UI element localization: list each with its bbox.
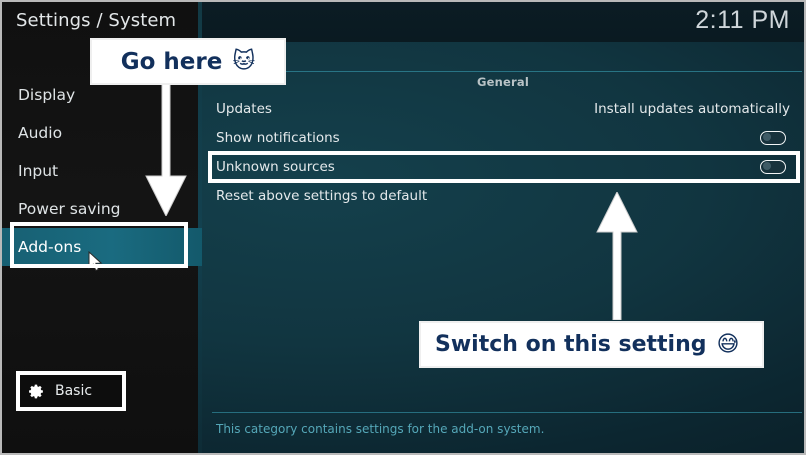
unknown-sources-toggle[interactable] (760, 160, 786, 174)
sidebar-item-label: Audio (18, 124, 62, 142)
setting-value: Install updates automatically (594, 101, 798, 117)
setting-row-updates[interactable]: Updates Install updates automatically (202, 94, 804, 123)
toggle-knob (763, 133, 771, 141)
setting-row-show-notifications[interactable]: Show notifications (202, 123, 804, 152)
sidebar-item-label: Display (18, 86, 75, 104)
top-bar: Settings / System 2:11 PM (2, 2, 804, 42)
setting-row-reset-defaults[interactable]: Reset above settings to default (202, 181, 804, 210)
settings-panel: General Updates Install updates automati… (202, 42, 804, 453)
setting-label: Reset above settings to default (216, 188, 427, 204)
sidebar-item-label: Add-ons (18, 238, 81, 256)
cat-face-emoji: 🐱 (232, 51, 255, 73)
show-notifications-toggle[interactable] (760, 131, 786, 145)
grinning-sweat-emoji: 😅 (717, 334, 740, 356)
kodi-settings-screenshot: Settings / System 2:11 PM Display Audio … (0, 0, 806, 455)
settings-level-label: Basic (55, 383, 92, 399)
setting-label: Updates (216, 101, 272, 117)
callout-text: Switch on this setting (435, 332, 707, 357)
sidebar-nav: Display Audio Input Power saving Add-ons (2, 76, 202, 266)
toggle-wrap (760, 160, 798, 174)
callout-go-here: Go here 🐱 (90, 38, 286, 85)
setting-label: Show notifications (216, 130, 340, 146)
mouse-cursor (88, 251, 104, 273)
sidebar-item-label: Input (18, 162, 58, 180)
toggle-knob (763, 162, 771, 170)
settings-group-title: General (202, 75, 804, 89)
setting-row-unknown-sources[interactable]: Unknown sources (202, 152, 804, 181)
callout-text: Go here (121, 49, 223, 75)
toggle-wrap (760, 131, 798, 145)
settings-level-button[interactable]: Basic (16, 371, 126, 411)
settings-rows: Updates Install updates automatically Sh… (202, 94, 804, 210)
panel-top-divider (212, 71, 802, 72)
page-title: Settings / System (16, 10, 176, 31)
sidebar-item-audio[interactable]: Audio (2, 114, 202, 152)
sidebar-item-input[interactable]: Input (2, 152, 202, 190)
panel-bottom-divider (212, 412, 802, 413)
gear-icon (28, 383, 45, 400)
clock: 2:11 PM (695, 6, 790, 35)
callout-switch-on-this-setting: Switch on this setting 😅 (419, 321, 764, 368)
sidebar-item-power-saving[interactable]: Power saving (2, 190, 202, 228)
category-help-text: This category contains settings for the … (216, 422, 544, 436)
sidebar-item-label: Power saving (18, 200, 121, 218)
setting-label: Unknown sources (216, 159, 335, 175)
